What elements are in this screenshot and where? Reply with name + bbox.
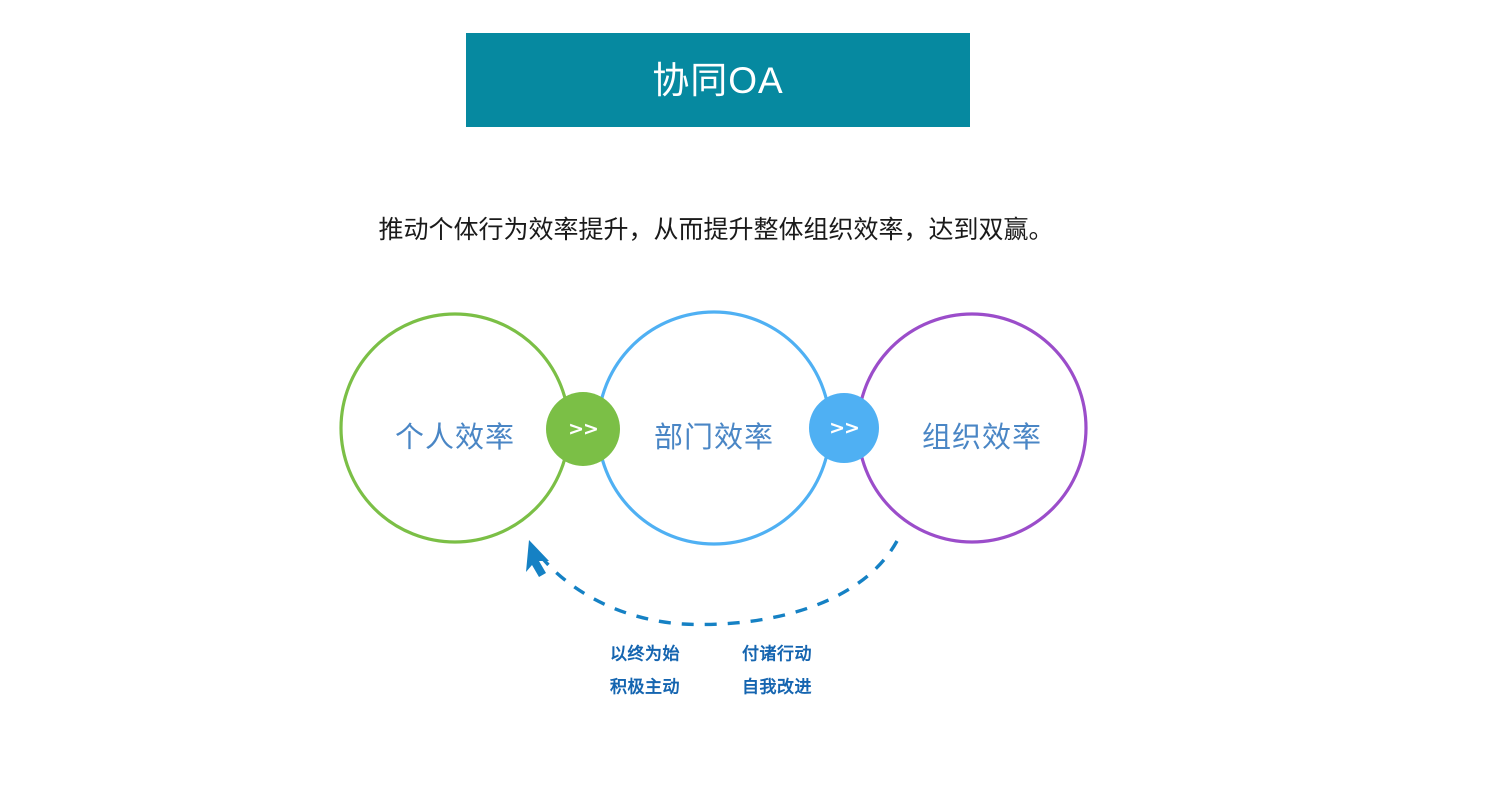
principle-label-be-proactive: 积极主动 xyxy=(610,673,680,698)
connector-badge-department-to-organization: >> xyxy=(809,393,879,463)
principle-label-take-action: 付诸行动 xyxy=(742,640,812,665)
principle-label-self-improvement: 自我改进 xyxy=(742,673,812,698)
circle-label-personal-efficiency: 个人效率 xyxy=(395,414,515,456)
double-chevron-right-icon: >> xyxy=(568,420,598,439)
circle-label-department-efficiency: 部门效率 xyxy=(654,414,774,456)
principle-label-begin-with-end-in-mind: 以终为始 xyxy=(610,640,680,665)
connector-badge-personal-to-department: >> xyxy=(546,392,620,466)
efficiency-flow-diagram: 个人效率 部门效率 组织效率 >> >> 以终为始 付诸行动 积极主动 自我改进 xyxy=(0,0,1489,798)
feedback-arrowhead-icon xyxy=(526,540,549,577)
circle-label-organization-efficiency: 组织效率 xyxy=(922,414,1042,456)
double-chevron-right-icon: >> xyxy=(829,419,859,438)
feedback-dashed-curve xyxy=(535,541,897,624)
